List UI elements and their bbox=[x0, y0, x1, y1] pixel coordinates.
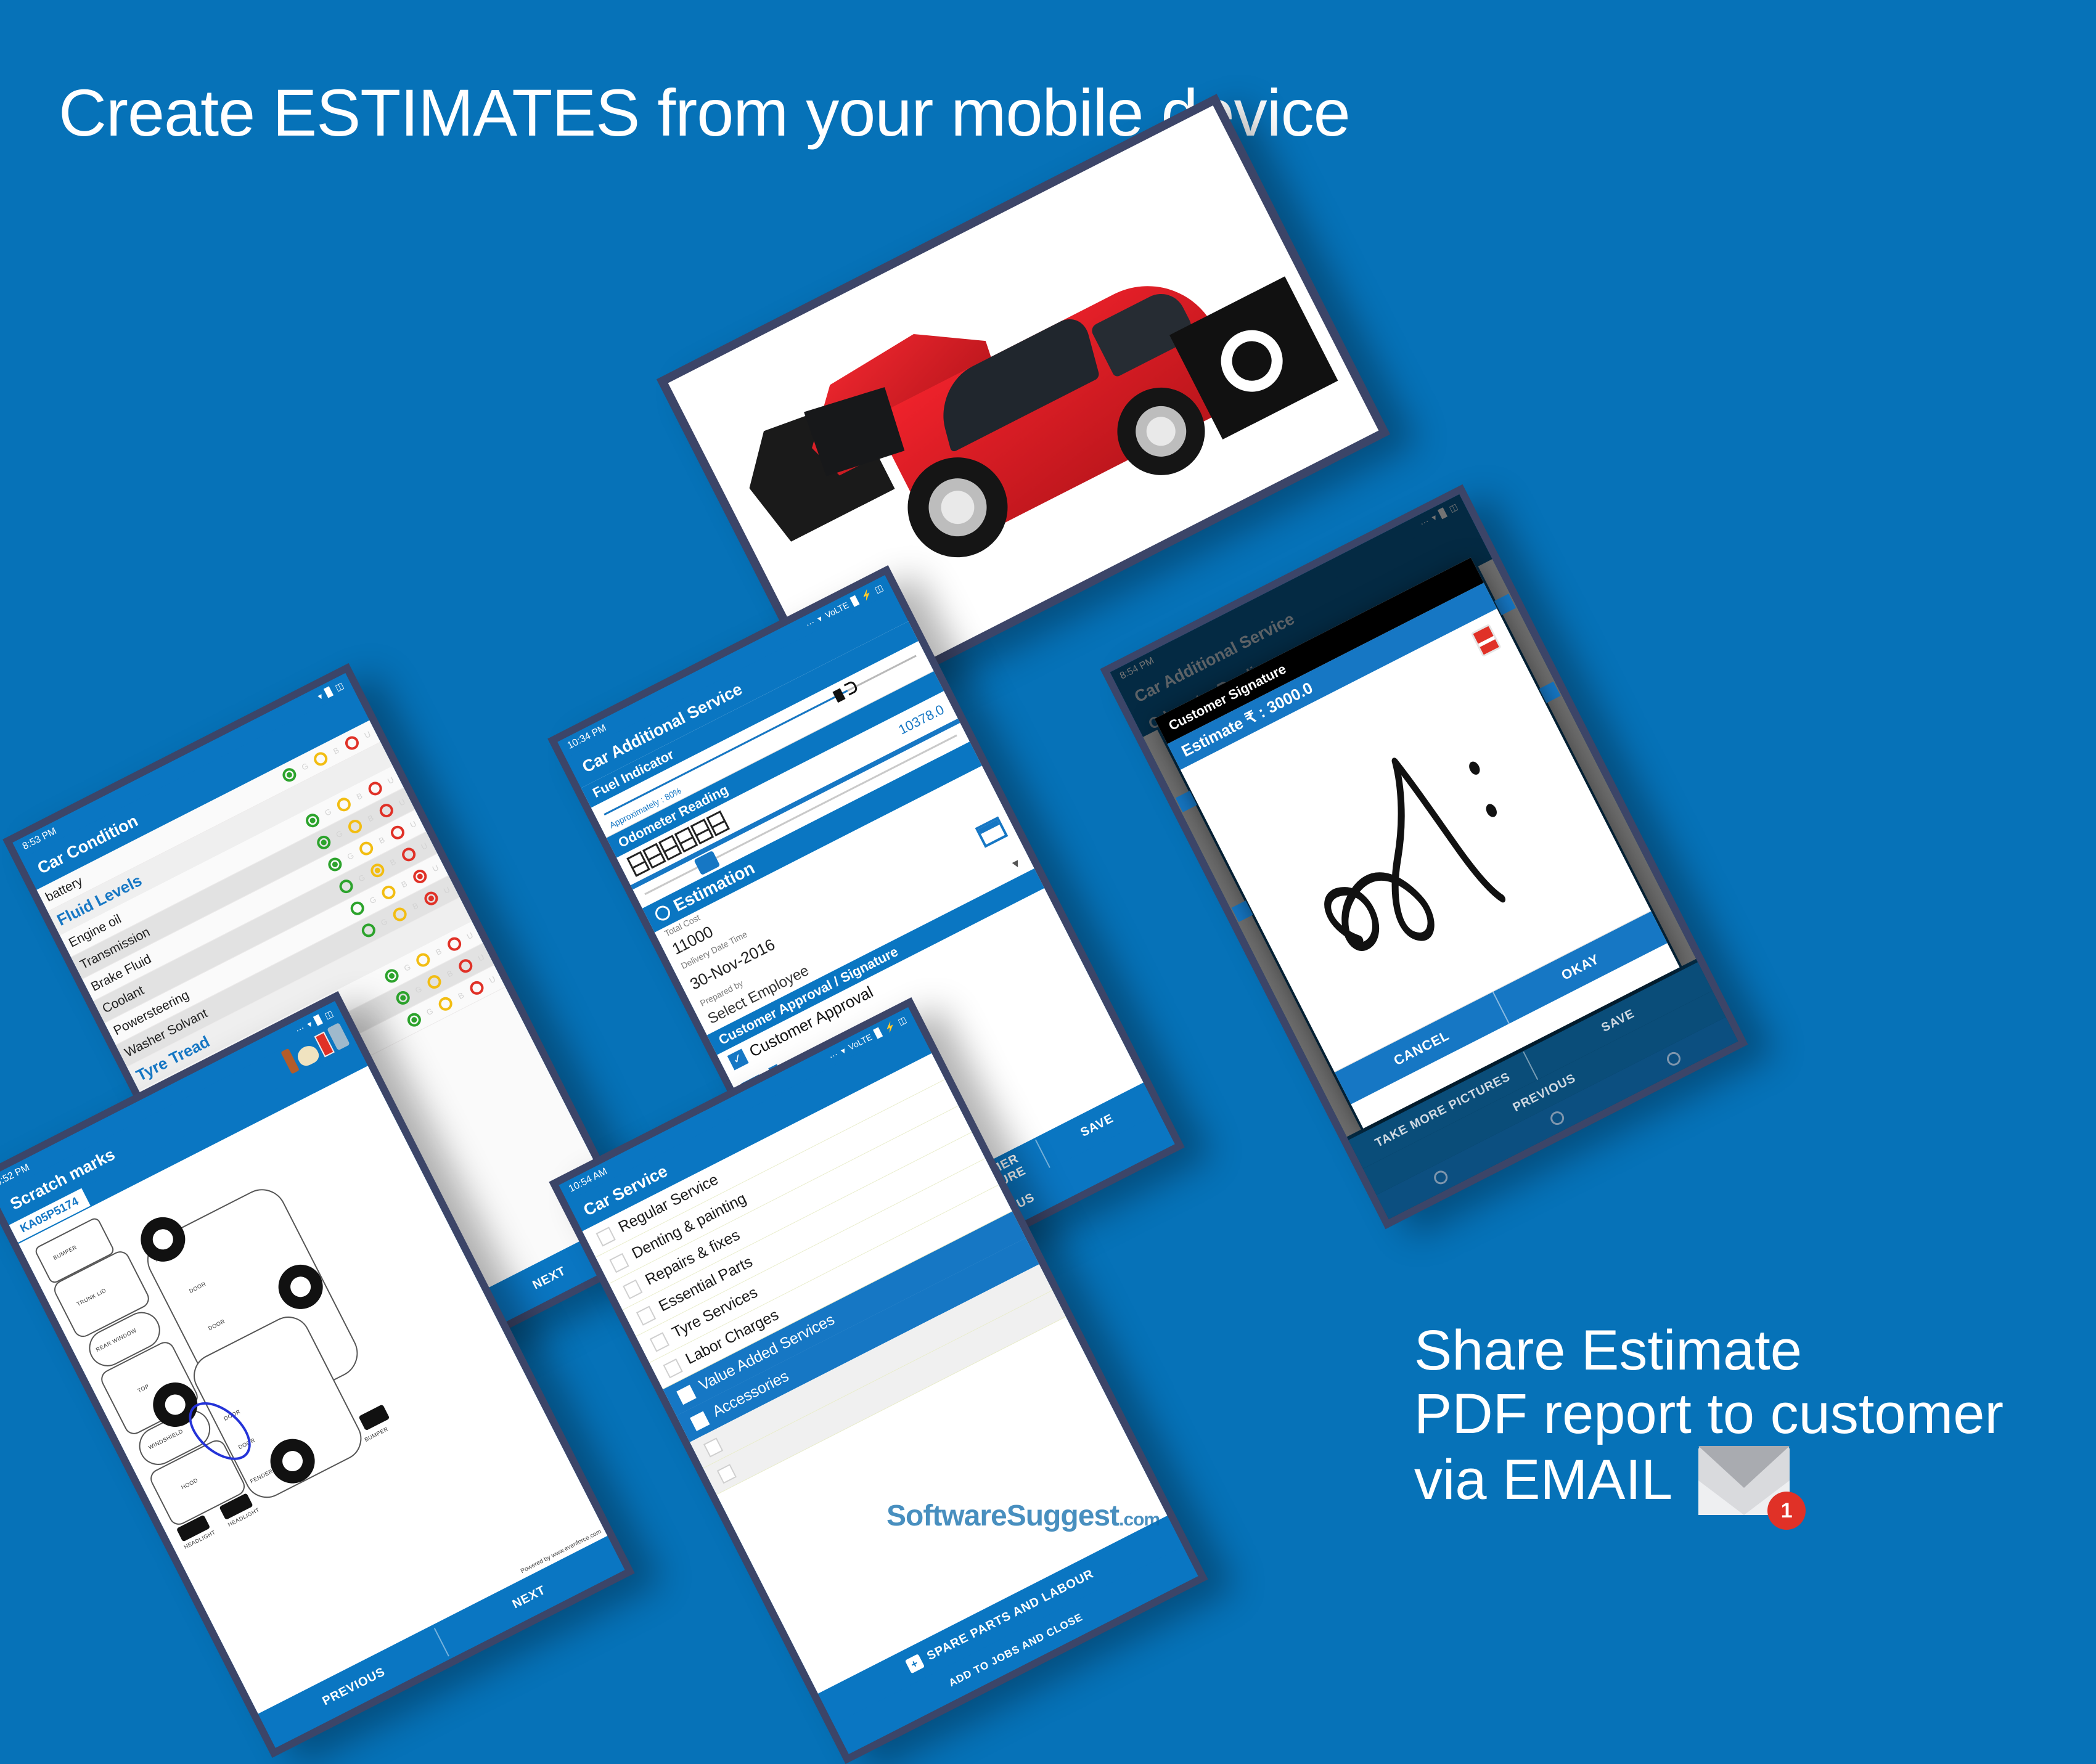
radio-label-g: G bbox=[379, 917, 390, 928]
radio-label-u: U bbox=[419, 841, 430, 852]
wifi-icon: ▾ bbox=[316, 690, 324, 701]
radio-label-u: U bbox=[386, 775, 396, 786]
radio-bad[interactable] bbox=[414, 950, 432, 969]
radio-bad[interactable] bbox=[335, 795, 353, 814]
envelope-icon: 1 bbox=[1698, 1446, 1790, 1515]
caption-line-3: via EMAIL bbox=[1414, 1448, 1672, 1512]
watermark-suffix: .com bbox=[1119, 1509, 1160, 1530]
radio-bad[interactable] bbox=[436, 995, 455, 1013]
wifi-icon: ▾ bbox=[305, 1019, 314, 1030]
more-icon: ⋯ bbox=[804, 617, 816, 631]
radio-label-u: U bbox=[362, 729, 373, 740]
plus-icon[interactable]: + bbox=[905, 1654, 925, 1673]
recents-icon[interactable] bbox=[1664, 1050, 1683, 1068]
radio-label-b: B bbox=[354, 791, 365, 802]
back-icon[interactable] bbox=[1431, 1169, 1450, 1187]
battery-icon: ◫ bbox=[334, 680, 346, 693]
radio-label-u: U bbox=[408, 819, 419, 830]
battery-icon: ◫ bbox=[323, 1008, 335, 1021]
radio-label-g: G bbox=[356, 873, 367, 884]
more-icon: ⋯ bbox=[827, 1049, 840, 1063]
signal-icon: ▉ bbox=[313, 1014, 324, 1026]
radio-urgent[interactable] bbox=[399, 845, 418, 864]
radio-label-g: G bbox=[402, 962, 412, 973]
radio-label-u: U bbox=[465, 930, 475, 941]
radio-label-b: B bbox=[433, 946, 444, 957]
radio-label-g: G bbox=[414, 984, 424, 995]
caption-block: Share Estimate PDF report to customer vi… bbox=[1414, 1319, 2004, 1515]
radio-label-b: B bbox=[331, 745, 342, 756]
chevron-down-icon[interactable]: ▼ bbox=[1009, 855, 1024, 872]
battery-icon: ◫ bbox=[896, 1014, 909, 1027]
radio-bad[interactable] bbox=[391, 905, 409, 923]
watermark-name: SoftwareSuggest bbox=[886, 1500, 1119, 1532]
watermark: SoftwareSuggest.com bbox=[886, 1499, 1160, 1533]
device-customer-signature: 8:54 PM ⋯ ▾ ▉ ◫ Car Additional Service O… bbox=[1100, 484, 1748, 1229]
poster-stage: Create ESTIMATES from your mobile device bbox=[0, 0, 2096, 1572]
radio-label-b: B bbox=[377, 835, 387, 846]
radio-label-u: U bbox=[487, 974, 497, 985]
email-count-badge: 1 bbox=[1767, 1492, 1806, 1530]
radio-urgent[interactable] bbox=[388, 823, 407, 841]
radio-label-b: B bbox=[366, 812, 376, 823]
radio-label-b: B bbox=[388, 857, 398, 868]
checkbox-checked-icon[interactable]: ✓ bbox=[727, 1048, 748, 1070]
radio-urgent[interactable] bbox=[456, 957, 475, 975]
radio-urgent[interactable] bbox=[377, 801, 396, 820]
radio-label-b: B bbox=[399, 878, 409, 889]
battery-icon: ◫ bbox=[873, 582, 885, 595]
radio-label-g: G bbox=[425, 1006, 435, 1017]
radio-label-u: U bbox=[441, 884, 452, 896]
eraser-icon[interactable] bbox=[1471, 624, 1502, 658]
radio-label-b: B bbox=[444, 968, 455, 979]
radio-bad[interactable] bbox=[425, 973, 443, 991]
radio-bad[interactable] bbox=[368, 861, 387, 880]
radio-label-u: U bbox=[397, 797, 407, 808]
radio-urgent[interactable] bbox=[467, 979, 486, 997]
radio-label-u: U bbox=[476, 952, 486, 963]
charging-icon: ⚡ bbox=[883, 1020, 897, 1034]
caption-line-3-row: via EMAIL 1 bbox=[1414, 1446, 2004, 1515]
more-icon: ⋯ bbox=[294, 1023, 306, 1036]
signal-icon: ▉ bbox=[849, 595, 860, 607]
signal-icon: ▉ bbox=[873, 1027, 883, 1039]
radio-bad[interactable] bbox=[346, 817, 364, 836]
radio-label-u: U bbox=[430, 862, 441, 873]
charging-icon: ⚡ bbox=[859, 588, 874, 602]
radio-bad[interactable] bbox=[311, 749, 330, 768]
home-icon[interactable] bbox=[1548, 1109, 1566, 1127]
radio-label-g: G bbox=[345, 851, 356, 862]
caption-line-1: Share Estimate bbox=[1414, 1319, 2004, 1382]
radio-label-b: B bbox=[456, 990, 467, 1001]
caption-line-2: PDF report to customer bbox=[1414, 1382, 2004, 1446]
radio-label-g: G bbox=[368, 894, 379, 905]
customer-signature-screen: 8:54 PM ⋯ ▾ ▉ ◫ Car Additional Service O… bbox=[1110, 494, 1738, 1219]
wifi-icon: ▾ bbox=[816, 613, 824, 624]
radio-urgent[interactable] bbox=[366, 779, 385, 798]
radio-urgent[interactable] bbox=[343, 733, 361, 752]
radio-label-g: G bbox=[334, 828, 345, 839]
radio-bad[interactable] bbox=[357, 839, 375, 857]
clock-icon bbox=[653, 903, 673, 923]
radio-urgent[interactable] bbox=[411, 867, 429, 886]
radio-label-g: G bbox=[323, 807, 334, 818]
radio-bad[interactable] bbox=[379, 883, 398, 902]
signal-icon: ▉ bbox=[324, 685, 334, 698]
radio-label-g: G bbox=[300, 761, 310, 772]
wifi-icon: ▾ bbox=[839, 1045, 848, 1056]
radio-urgent[interactable] bbox=[445, 934, 464, 953]
radio-urgent[interactable] bbox=[422, 889, 440, 907]
radio-label-b: B bbox=[411, 900, 421, 912]
